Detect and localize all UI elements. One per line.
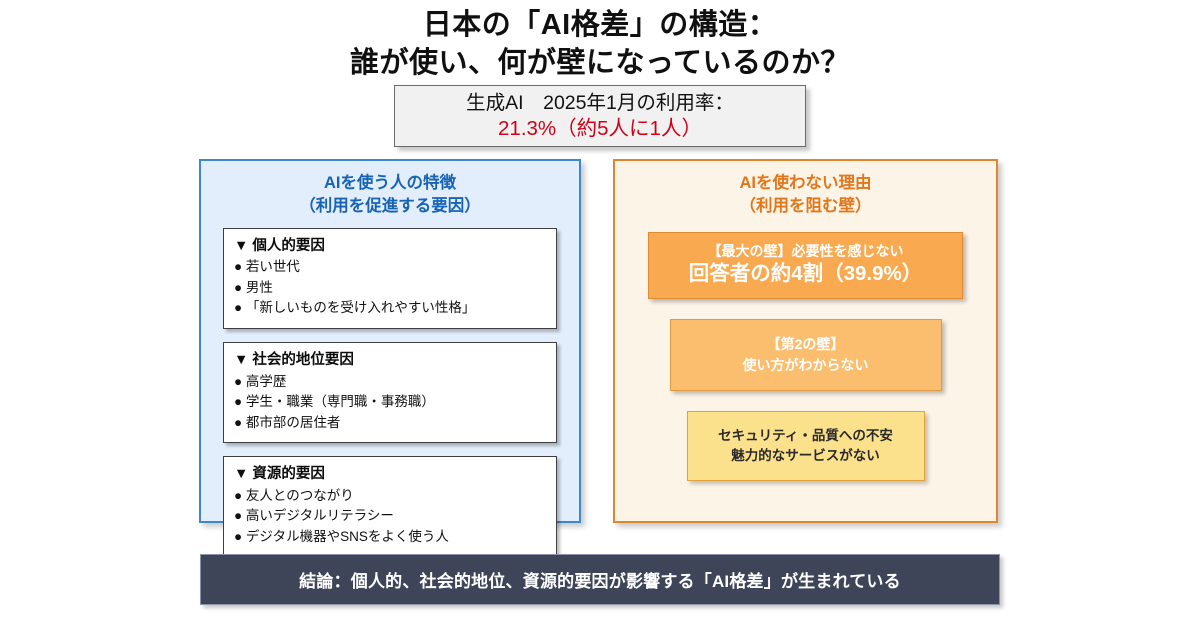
- conclusion-banner: 結論：個人的、社会的地位、資源的要因が影響する「AI格差」が生まれている: [200, 554, 1000, 605]
- barrier-bar-secondary: 【第2の壁】 使い方がわからない: [670, 319, 942, 391]
- infographic-slide: 日本の「AI格差」の構造： 誰が使い、何が壁になっているのか？ 生成AI 202…: [0, 0, 1200, 630]
- card-item: ● 高学歴: [234, 372, 546, 393]
- card-title: ▼ 個人的要因: [234, 236, 546, 258]
- page-title: 日本の「AI格差」の構造： 誰が使い、何が壁になっているのか？: [0, 6, 1200, 83]
- card-title: ▼ 社会的地位要因: [234, 350, 546, 372]
- barrier-bar-list: 【最大の壁】必要性を感じない 回答者の約4割（39.9%） 【第2の壁】 使い方…: [615, 232, 996, 481]
- usage-rate-label: 生成AI 2025年1月の利用率：: [466, 91, 734, 116]
- card-item: ● 「新しいものを受け入れやすい性格」: [234, 298, 546, 319]
- card-item: ● デジタル機器やSNSをよく使う人: [234, 527, 546, 548]
- barrier-bar-line-1: 【最大の壁】必要性を感じない: [708, 242, 904, 261]
- panel-ai-users: AIを使う人の特徴 （利用を促進する要因） ▼ 個人的要因 ● 若い世代 ● 男…: [199, 159, 581, 523]
- barrier-bar-line-1: セキュリティ・品質への不安: [718, 426, 893, 446]
- panel-ai-barriers-header: AIを使わない理由 （利用を阻む壁）: [615, 161, 996, 218]
- barrier-bar-line-2: 回答者の約4割（39.9%）: [689, 261, 923, 288]
- factor-card-resources: ▼ 資源的要因 ● 友人とのつながり ● 高いデジタルリテラシー ● デジタル機…: [223, 456, 557, 557]
- card-item: ● 若い世代: [234, 257, 546, 278]
- factor-card-personal: ▼ 個人的要因 ● 若い世代 ● 男性 ● 「新しいものを受け入れやすい性格」: [223, 228, 557, 329]
- usage-rate-callout: 生成AI 2025年1月の利用率： 21.3%（約5人に1人）: [394, 85, 806, 147]
- factor-card-list: ▼ 個人的要因 ● 若い世代 ● 男性 ● 「新しいものを受け入れやすい性格」 …: [201, 228, 579, 558]
- card-item: ● 学生・職業（専門職・事務職）: [234, 392, 546, 413]
- panel-ai-barriers: AIを使わない理由 （利用を阻む壁） 【最大の壁】必要性を感じない 回答者の約4…: [613, 159, 998, 523]
- card-item: ● 都市部の居住者: [234, 413, 546, 434]
- barrier-bar-line-1: 【第2の壁】: [767, 334, 845, 354]
- card-item: ● 高いデジタルリテラシー: [234, 506, 546, 527]
- title-line-2: 誰が使い、何が壁になっているのか？: [0, 44, 1200, 82]
- card-item: ● 男性: [234, 278, 546, 299]
- barrier-bar-tertiary: セキュリティ・品質への不安 魅力的なサービスがない: [687, 411, 925, 481]
- title-line-1: 日本の「AI格差」の構造：: [0, 6, 1200, 44]
- panel-ai-barriers-header-line-2: （利用を阻む壁）: [615, 195, 996, 218]
- usage-rate-value: 21.3%（約5人に1人）: [498, 116, 702, 142]
- card-title: ▼ 資源的要因: [234, 464, 546, 486]
- panel-ai-barriers-header-line-1: AIを使わない理由: [615, 172, 996, 195]
- panel-ai-users-header: AIを使う人の特徴 （利用を促進する要因）: [201, 161, 579, 218]
- panel-ai-users-header-line-2: （利用を促進する要因）: [201, 195, 579, 218]
- panel-ai-users-header-line-1: AIを使う人の特徴: [201, 172, 579, 195]
- factor-card-social-status: ▼ 社会的地位要因 ● 高学歴 ● 学生・職業（専門職・事務職） ● 都市部の居…: [223, 342, 557, 443]
- barrier-bar-line-2: 魅力的なサービスがない: [731, 446, 880, 466]
- barrier-bar-primary: 【最大の壁】必要性を感じない 回答者の約4割（39.9%）: [648, 232, 963, 299]
- barrier-bar-line-2: 使い方がわからない: [743, 355, 869, 375]
- card-item: ● 友人とのつながり: [234, 486, 546, 507]
- conclusion-text: 結論：個人的、社会的地位、資源的要因が影響する「AI格差」が生まれている: [299, 567, 901, 592]
